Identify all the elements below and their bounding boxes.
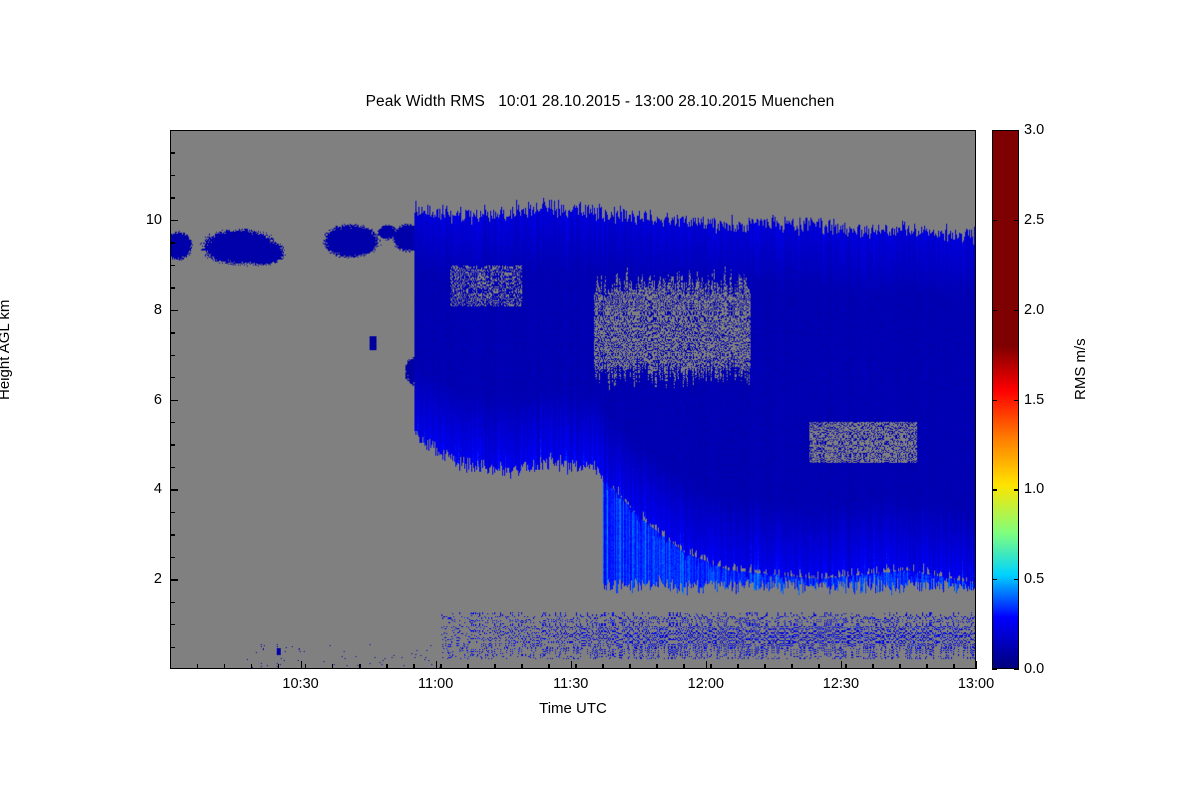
- page-title: Peak Width RMS 10:01 28.10.2015 - 13:00 …: [0, 93, 1200, 111]
- colorbar-tick-label: 0.5: [1024, 571, 1044, 587]
- x-axis-tick-label: 12:00: [688, 676, 724, 692]
- y-axis-tick-label: 10: [146, 212, 162, 228]
- colorbar-tick-label: 2.5: [1024, 212, 1044, 228]
- x-axis-tick-label: 11:30: [553, 676, 588, 692]
- colorbar-tick: [1014, 579, 1019, 580]
- colorbar-tick-label: 2.0: [1024, 302, 1044, 318]
- colorbar-tick: [992, 489, 997, 490]
- colorbar-tick: [1014, 220, 1019, 221]
- colorbar-title: RMS m/s: [1072, 338, 1089, 400]
- y-axis-tick-label: 6: [154, 392, 162, 408]
- y-axis-tick-label: 2: [154, 571, 162, 587]
- colorbar-tick-label: 1.0: [1024, 481, 1044, 497]
- colorbar-tick: [1014, 669, 1019, 670]
- colorbar-tick: [992, 310, 997, 311]
- colorbar-tick: [1014, 310, 1019, 311]
- x-axis-title: Time UTC: [170, 700, 976, 717]
- x-axis-tick-label: 13:00: [958, 676, 994, 692]
- colorbar-tick: [1014, 400, 1019, 401]
- y-axis-title: Height AGL km: [0, 300, 13, 400]
- x-axis-tick-label: 12:30: [823, 676, 859, 692]
- colorbar-tick: [992, 400, 997, 401]
- colorbar-tick: [992, 669, 997, 670]
- colorbar-tick: [992, 220, 997, 221]
- x-axis-tick-label: 10:30: [282, 676, 318, 692]
- x-axis-tick-label: 11:00: [418, 676, 453, 692]
- colorbar-tick-label: 3.0: [1024, 122, 1044, 138]
- heatmap-raster: [171, 131, 975, 668]
- colorbar-tick-label: 1.5: [1024, 392, 1044, 408]
- y-axis-tick-label: 4: [154, 481, 162, 497]
- y-axis-tick-label: 8: [154, 302, 162, 318]
- x-axis-major-tick: [976, 661, 977, 669]
- heatmap-plot-area[interactable]: [170, 130, 976, 669]
- colorbar-tick: [992, 130, 997, 131]
- colorbar-tick: [1014, 489, 1019, 490]
- colorbar-tick-label: 0.0: [1024, 661, 1044, 677]
- colorbar-tick: [992, 579, 997, 580]
- colorbar-tick: [1014, 130, 1019, 131]
- figure-canvas: Peak Width RMS 10:01 28.10.2015 - 13:00 …: [0, 0, 1200, 800]
